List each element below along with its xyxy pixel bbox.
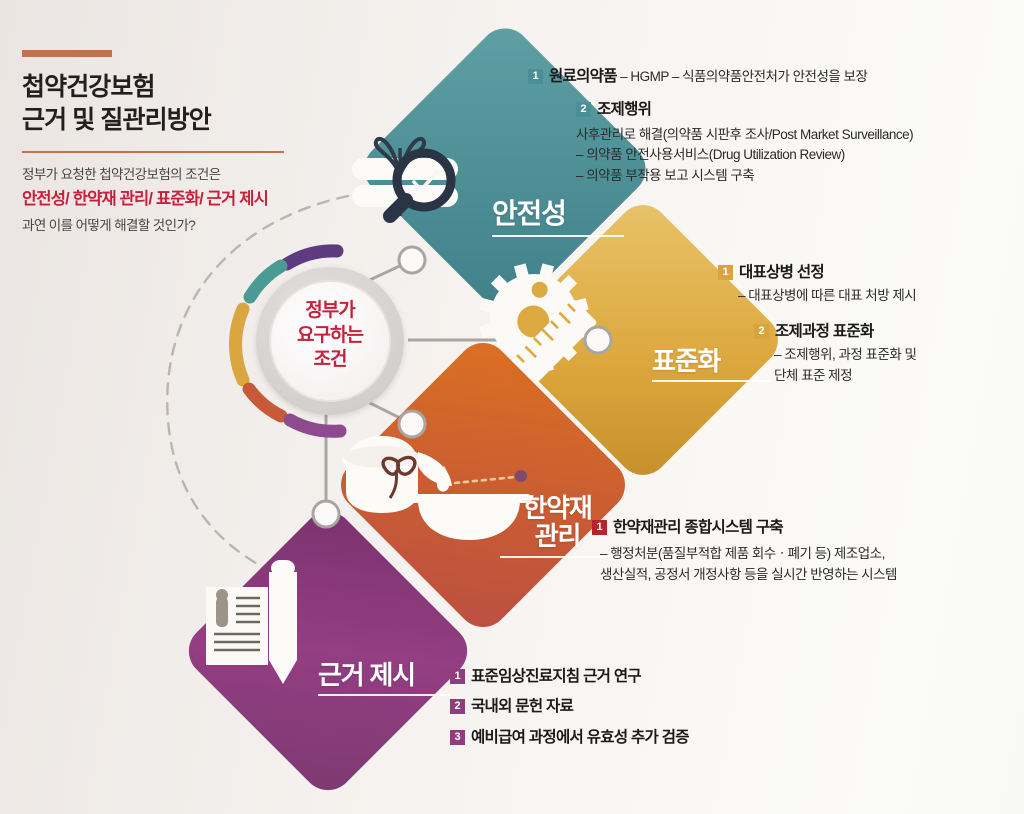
infographic-canvas: 첩약건강보험 근거 및 질관리방안 정부가 요청한 첩약건강보험의 조건은 안전… [0, 0, 1024, 814]
item-number-badge: 2 [754, 324, 769, 339]
branch-label-safety-text: 안전성 [492, 198, 566, 229]
hub-label: 정부가 요구하는 조건 [264, 299, 396, 373]
item-number-badge: 1 [718, 265, 733, 280]
item-number-badge: 1 [592, 520, 607, 535]
branch-label-evidence-text: 근거 제시 [318, 660, 415, 690]
item-heading: 조제행위 [597, 99, 651, 121]
item-detail: – HGMP – 식품의약품안전처가 안전성을 보장 [617, 69, 868, 84]
item-number-badge: 1 [528, 69, 543, 84]
content-block-evidence: 1 표준임상진료지침 근거 연구 2 국내외 문헌 자료 3 예비급여 과정에서… [450, 666, 870, 757]
content-block-safety: 1 원료의약품 – HGMP – 식품의약품안전처가 안전성을 보장 2 조제행… [528, 66, 1010, 186]
detail-line: 사후관리로 해결(의약품 시판후 조사/Post Market Surveill… [576, 125, 1010, 146]
detail-line: – 의약품 부작용 보고 시스템 구축 [576, 166, 1010, 187]
item-heading: 원료의약품 [549, 68, 617, 85]
content-block-standardization: 1 대표상병 선정 – 대표상병에 따른 대표 처방 제시 2 조제과정 표준화… [718, 262, 1018, 386]
content-block-herbal: 1 한약재관리 종합시스템 구축 – 행정처분(품질부적합 제품 회수ㆍ폐기 등… [592, 517, 1012, 586]
item-number-badge: 3 [450, 730, 465, 745]
branch-label-evidence: 근거 제시 [318, 632, 450, 725]
list-item: 2 조제행위 [576, 99, 1010, 121]
branch-label-herbal-text: 한약재 관리 [523, 493, 591, 552]
item-heading: 국내외 문헌 자료 [471, 696, 573, 718]
list-item: 1 표준임상진료지침 근거 연구 [450, 666, 870, 688]
detail-line: – 조제행위, 과정 표준화 및 단체 표준 제정 [774, 345, 1018, 386]
detail-lines: 사후관리로 해결(의약품 시판후 조사/Post Market Surveill… [576, 125, 1010, 187]
detail-line: – 대표상병에 따른 대표 처방 제시 [738, 286, 1018, 307]
item-number-badge: 2 [576, 102, 591, 117]
item-number-badge: 1 [450, 669, 465, 684]
list-item: 2 국내외 문헌 자료 [450, 696, 870, 718]
list-item: 1 원료의약품 – HGMP – 식품의약품안전처가 안전성을 보장 [528, 66, 1010, 88]
item-number-badge: 2 [450, 699, 465, 714]
list-item: 1 대표상병 선정 [718, 262, 1018, 284]
item-heading: 조제과정 표준화 [775, 321, 874, 343]
detail-line: – 의약품 안전사용서비스(Drug Utilization Review) [576, 145, 1010, 166]
item-heading: 대표상병 선정 [739, 262, 824, 284]
item-heading: 한약재관리 종합시스템 구축 [613, 517, 783, 539]
label-underline [492, 235, 624, 237]
item-heading: 표준임상진료지침 근거 연구 [471, 666, 641, 688]
list-item: 1 한약재관리 종합시스템 구축 [592, 517, 1012, 539]
label-underline [318, 694, 450, 696]
branch-label-standardization-text: 표준화 [652, 346, 720, 376]
list-item: 3 예비급여 과정에서 유효성 추가 검증 [450, 727, 870, 749]
detail-line: – 행정처분(품질부적합 제품 회수ㆍ폐기 등) 제조업소, 생산실적, 공정서… [600, 544, 1012, 585]
item-heading: 예비급여 과정에서 유효성 추가 검증 [471, 727, 689, 749]
list-item: 2 조제과정 표준화 [754, 321, 1018, 343]
